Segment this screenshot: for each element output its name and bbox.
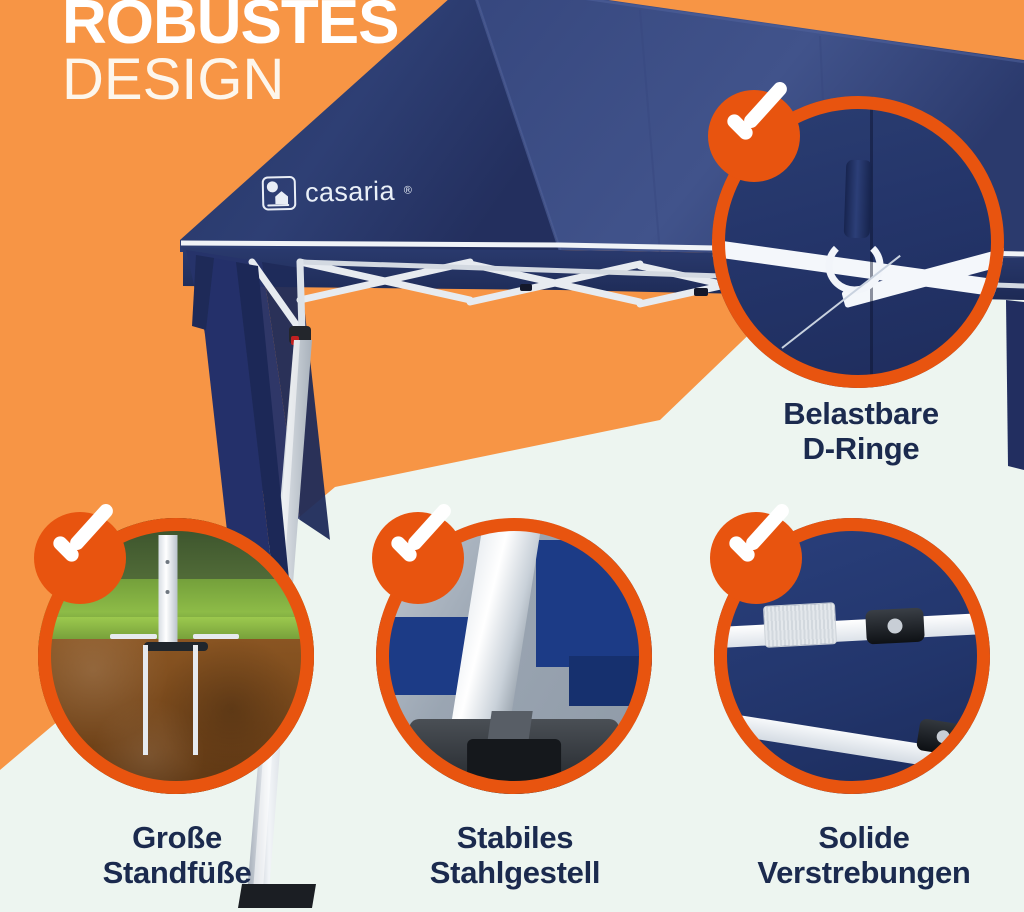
caption-line-2: Standfüße — [103, 855, 252, 890]
brand-name: casaria — [305, 175, 395, 208]
feature-callout-d-rings — [712, 96, 1004, 388]
caption-line-2: Stahlgestell — [430, 855, 600, 890]
product-feature-banner: casaria ® ROBUSTES DESIGN Belastbare D-R… — [0, 0, 1024, 912]
checkmark-icon — [710, 512, 802, 604]
caption-line-1: Solide — [818, 820, 909, 855]
feature-caption-braces: Solide Verstrebungen — [714, 820, 1014, 890]
headline-line-2: DESIGN — [62, 53, 398, 106]
checkmark-icon — [34, 512, 126, 604]
checkmark-icon — [708, 90, 800, 182]
feature-callout-feet — [38, 518, 314, 794]
caption-line-1: Belastbare — [783, 396, 939, 431]
caption-line-1: Große — [132, 820, 222, 855]
headline: ROBUSTES DESIGN — [62, 0, 398, 106]
feature-caption-d-rings: Belastbare D-Ringe — [736, 396, 986, 466]
feature-callout-braces — [714, 518, 990, 794]
checkmark-icon — [372, 512, 464, 604]
feature-caption-frame: Stabiles Stahlgestell — [384, 820, 646, 890]
feature-caption-feet: Große Standfüße — [46, 820, 308, 890]
house-sun-icon — [262, 176, 297, 211]
feature-callout-frame — [376, 518, 652, 794]
registered-mark: ® — [404, 184, 412, 196]
casaria-logo: casaria ® — [262, 173, 413, 210]
caption-line-1: Stabiles — [457, 820, 573, 855]
caption-line-2: Verstrebungen — [757, 855, 970, 890]
caption-line-2: D-Ringe — [803, 431, 920, 466]
headline-line-1: ROBUSTES — [62, 0, 398, 51]
